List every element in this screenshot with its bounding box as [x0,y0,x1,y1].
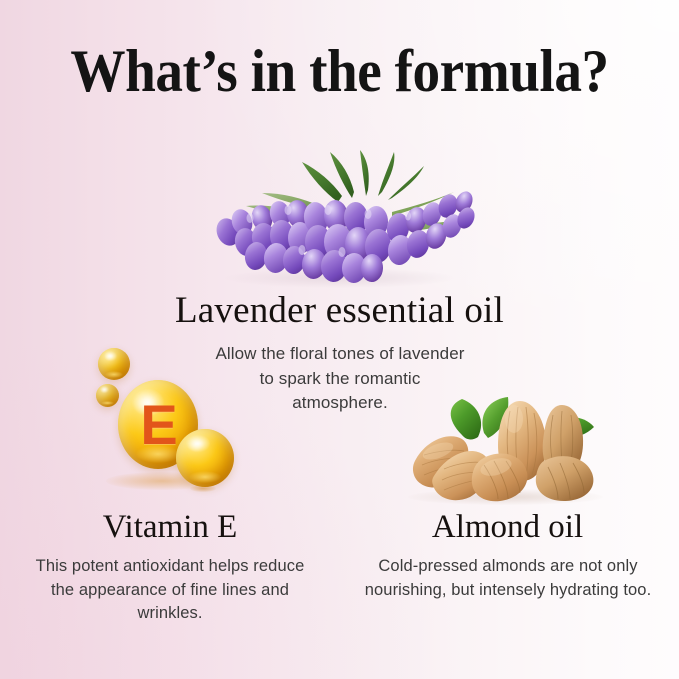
ingredient-heading-almond: Almond oil [345,509,670,546]
ingredient-description-lavender: Allow the floral tones of lavender to sp… [210,342,470,416]
ingredient-description-vitamin-e: This potent antioxidant helps reduce the… [24,555,316,626]
ingredient-heading-vitamin-e: Vitamin E [10,509,330,546]
lavender-sprig-photo [192,148,492,288]
vitamin-e-bubble-lower-right [176,429,234,487]
page-title: What’s in the formula? [27,38,652,104]
vitamin-e-bubble-small-upper [98,348,130,380]
ingredients-poster: What’s in the formula? [0,0,679,679]
ingredient-description-almond: Cold-pressed almonds are not only nouris… [358,555,658,602]
ingredient-heading-lavender: Lavender essential oil [0,291,679,331]
vitamin-e-bubble-small-lower [96,384,119,407]
